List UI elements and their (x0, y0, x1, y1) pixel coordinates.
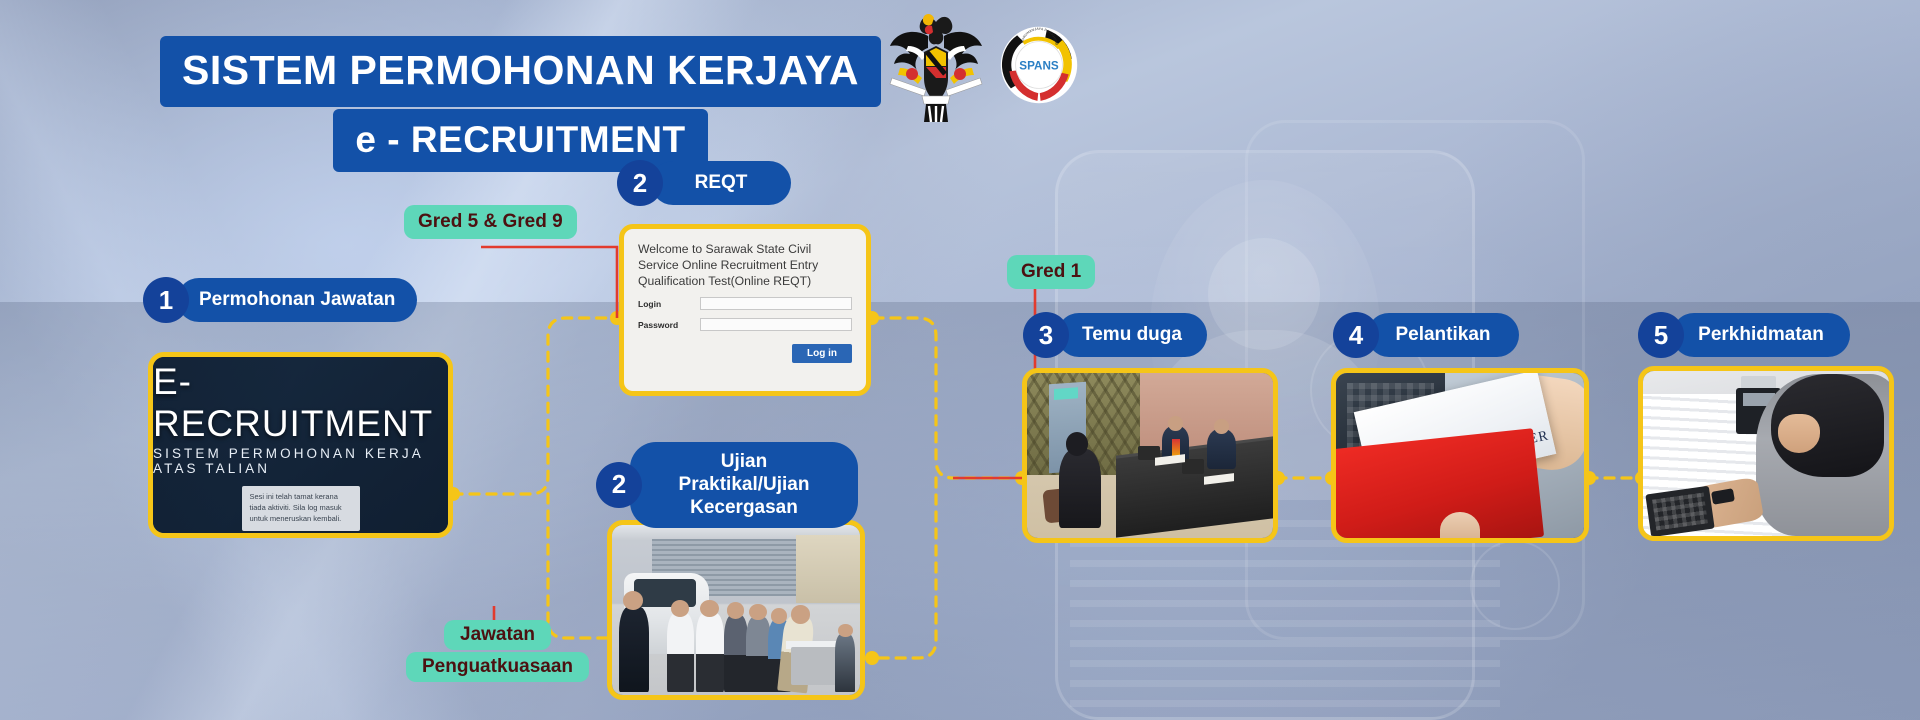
step-badge-permohonan-jawatan[interactable]: 1 Permohonan Jawatan (143, 277, 417, 323)
session-expired-notice: Sesi ini telah tamat kerana tiada aktivi… (242, 486, 360, 531)
svg-text:SPANS: SPANS (1019, 60, 1059, 73)
page-title: SISTEM PERMOHONAN KERJAYA e - RECRUITMEN… (160, 36, 881, 172)
reqt-password-row: Password (638, 318, 852, 331)
label-gred-1: Gred 1 (1007, 255, 1095, 289)
interview-panel-card[interactable] (1022, 368, 1278, 543)
spans-logo-icon: SPANS SURUHANJAYA PERKHIDMATAN AWAM (1000, 26, 1078, 104)
reqt-login-panel[interactable]: Welcome to Sarawak State Civil Service O… (619, 224, 871, 396)
reqt-login-button[interactable]: Log in (792, 344, 852, 363)
erecruitment-screen: E-RECRUITMENT SISTEM PERMOHONAN KERJA AT… (153, 357, 448, 533)
practical-test-card[interactable] (607, 520, 865, 700)
step-number: 3 (1023, 312, 1069, 358)
step-badge-ujian-praktikal[interactable]: 2 Ujian Praktikal/Ujian Kecergasan (596, 442, 858, 528)
title-line-1: SISTEM PERMOHONAN KERJAYA (160, 36, 881, 107)
office-service-photo (1643, 371, 1889, 536)
job-offer-photo: JOB OFFER LETTER WE ARE PLEASED TO OFFER… (1336, 373, 1584, 538)
erecruitment-title: E-RECRUITMENT (153, 361, 448, 445)
label-jawatan-line2: Penguatkuasaan (406, 652, 589, 682)
step-label: Ujian Praktikal/Ujian Kecergasan (630, 442, 858, 528)
step-badge-reqt[interactable]: 2 REQT (617, 160, 791, 206)
background-stripes (1070, 520, 1500, 720)
erecruitment-portal-card[interactable]: E-RECRUITMENT SISTEM PERMOHONAN KERJA AT… (148, 352, 453, 538)
step-label: Pelantikan (1367, 313, 1519, 356)
erecruitment-subtitle: SISTEM PERMOHONAN KERJA ATAS TALIAN (153, 446, 448, 476)
step-badge-perkhidmatan[interactable]: 5 Perkhidmatan (1638, 312, 1850, 358)
label-jawatan-line1: Jawatan (444, 620, 551, 650)
step-label: Temu duga (1057, 313, 1207, 356)
step-label: Permohonan Jawatan (177, 278, 417, 321)
step-number: 2 (617, 160, 663, 206)
step-number: 4 (1333, 312, 1379, 358)
label-gred-5-and-9: Gred 5 & Gred 9 (404, 205, 577, 239)
job-offer-letter-card[interactable]: JOB OFFER LETTER WE ARE PLEASED TO OFFER… (1331, 368, 1589, 543)
step-number: 2 (596, 462, 642, 508)
reqt-password-input[interactable] (700, 318, 852, 331)
logo-group: SPANS SURUHANJAYA PERKHIDMATAN AWAM (886, 6, 1078, 124)
office-service-card[interactable] (1638, 366, 1894, 541)
background-circle-2 (1470, 540, 1560, 630)
step-badge-temu-duga[interactable]: 3 Temu duga (1023, 312, 1207, 358)
step-label: REQT (651, 161, 791, 204)
reqt-password-label: Password (638, 320, 700, 330)
step-label: Perkhidmatan (1672, 313, 1850, 356)
label-jawatan-penguatkuasaan: Jawatan Penguatkuasaan (406, 620, 589, 682)
reqt-login-row: Login (638, 297, 852, 310)
reqt-welcome-text: Welcome to Sarawak State Civil Service O… (638, 241, 852, 289)
step-badge-pelantikan[interactable]: 4 Pelantikan (1333, 312, 1519, 358)
reqt-login-input[interactable] (700, 297, 852, 310)
reqt-button-row: Log in (638, 331, 852, 363)
interview-photo (1027, 373, 1273, 538)
practical-test-photo (612, 525, 860, 695)
step-number: 1 (143, 277, 189, 323)
reqt-login-label: Login (638, 299, 700, 309)
step-number: 5 (1638, 312, 1684, 358)
infographic-canvas: SISTEM PERMOHONAN KERJAYA e - RECRUITMEN… (0, 0, 1920, 720)
sarawak-coat-of-arms-icon (886, 6, 986, 124)
